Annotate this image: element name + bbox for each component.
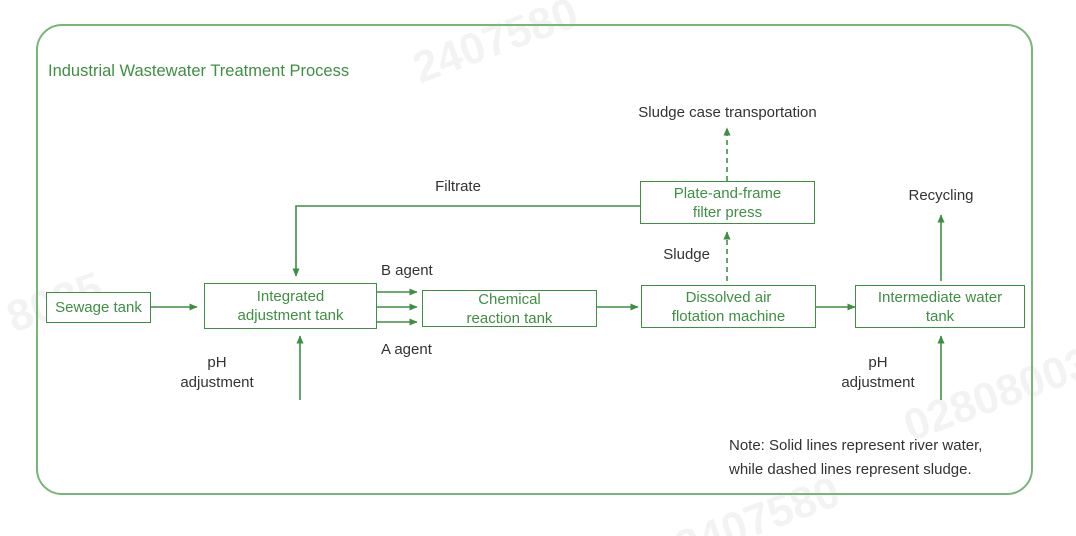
node-dissolved-air-flotation-machine[interactable]: Dissolved air flotation machine bbox=[641, 285, 816, 328]
node-chemical-reaction-tank[interactable]: Chemical reaction tank bbox=[422, 290, 597, 327]
page-title: Industrial Wastewater Treatment Process bbox=[48, 62, 349, 81]
node-sewage-tank[interactable]: Sewage tank bbox=[46, 292, 151, 323]
label-ph-adjustment-left: pH adjustment bbox=[157, 353, 277, 393]
node-integrated-adjustment-tank[interactable]: Integrated adjustment tank bbox=[204, 283, 377, 329]
label-sludge: Sludge bbox=[586, 245, 710, 265]
node-plate-and-frame-filter-press[interactable]: Plate-and-frame filter press bbox=[640, 181, 815, 224]
label-ph-adjustment-right: pH adjustment bbox=[830, 353, 926, 393]
diagram-canvas: 2407580 8035 02808003 2407580 Industrial… bbox=[0, 0, 1076, 536]
node-intermediate-water-tank[interactable]: Intermediate water tank bbox=[855, 285, 1025, 328]
label-b-agent: B agent bbox=[381, 261, 433, 281]
label-a-agent: A agent bbox=[381, 340, 432, 360]
legend-note: Note: Solid lines represent river water,… bbox=[729, 434, 982, 482]
diagram-frame bbox=[36, 24, 1033, 495]
label-filtrate: Filtrate bbox=[400, 177, 516, 197]
label-recycling: Recycling bbox=[880, 186, 1002, 206]
label-sludge-case-transportation: Sludge case transportation bbox=[580, 103, 875, 123]
